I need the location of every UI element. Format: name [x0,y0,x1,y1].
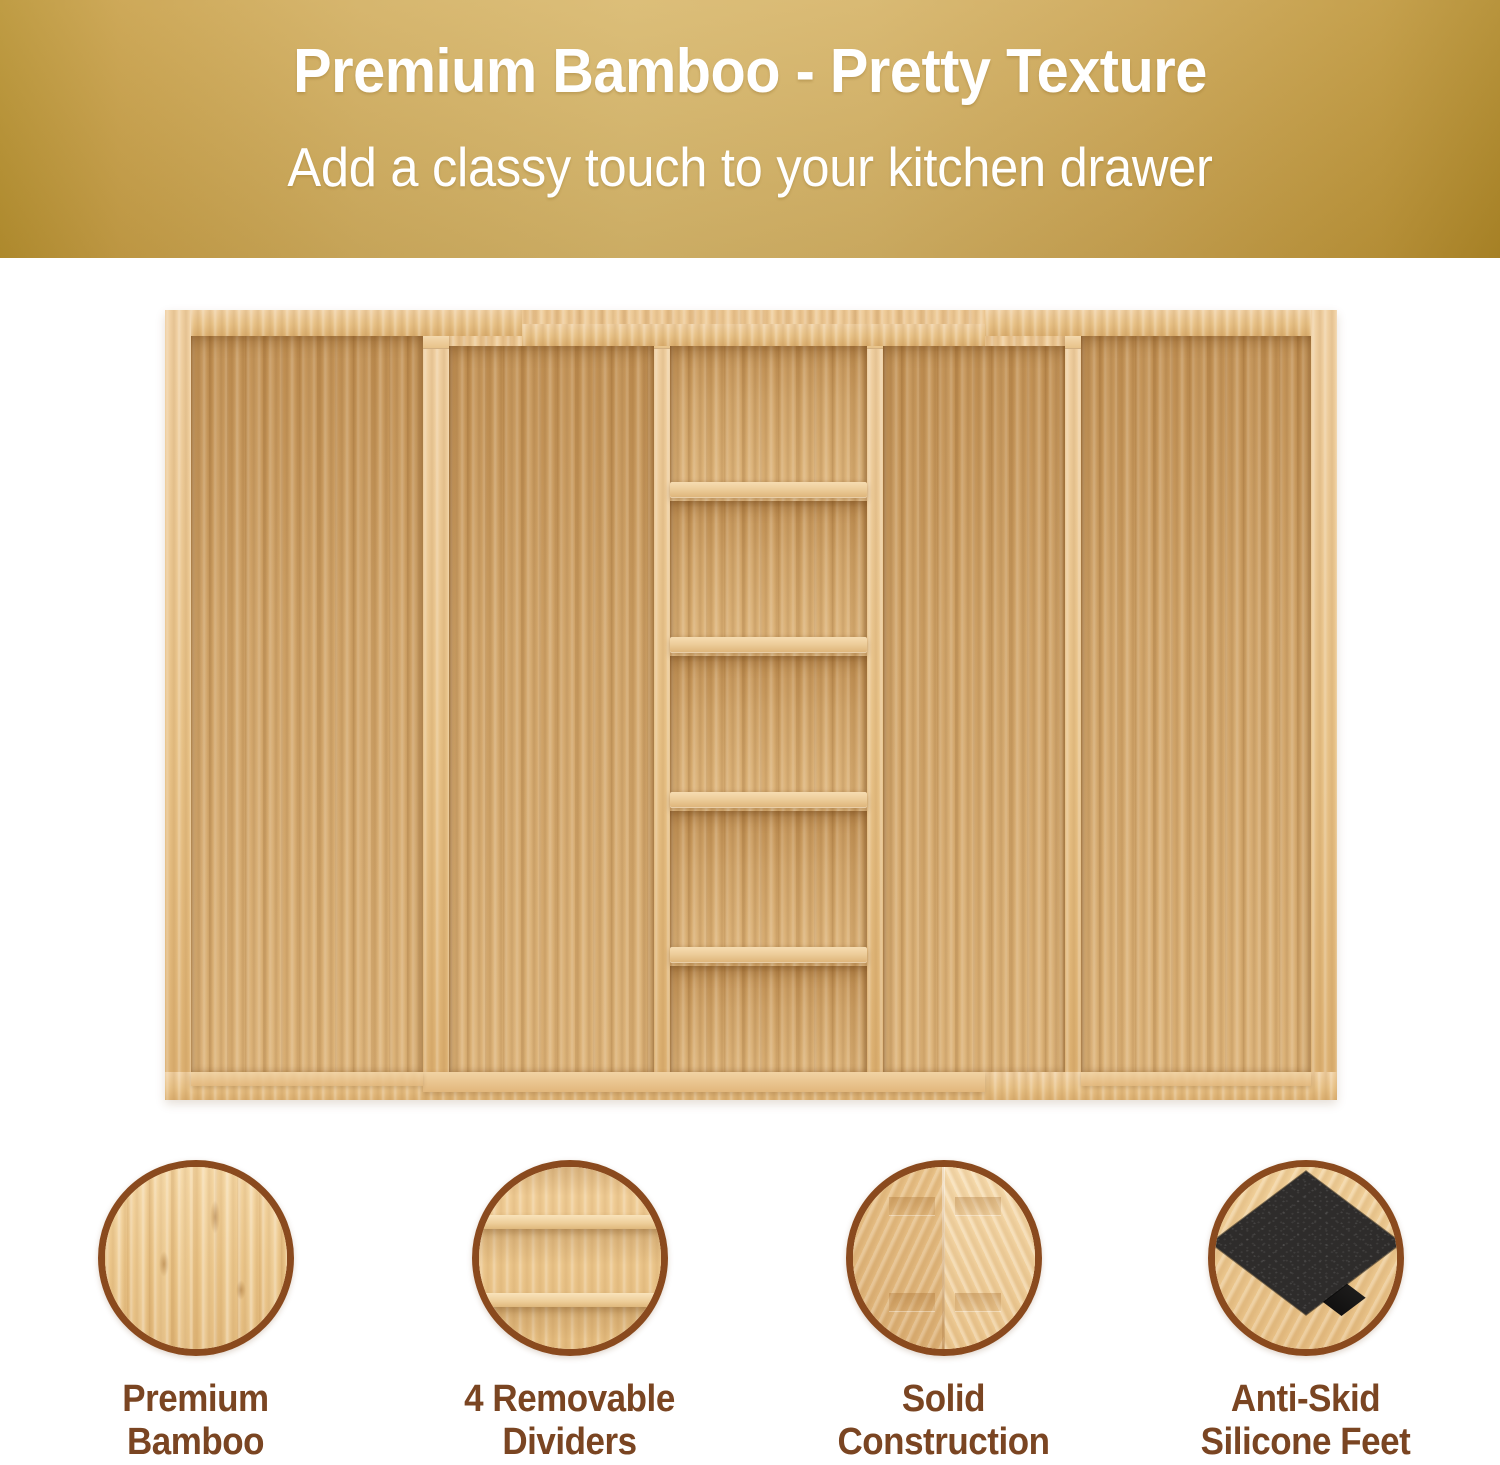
compartment-middle-5 [670,966,867,1072]
feature-item-removable-dividers: 4 Removable Dividers [382,1160,757,1463]
product-image-drawer-organizer [165,310,1337,1100]
silicone-foot-icon [1208,1160,1404,1356]
page-title: Premium Bamboo - Pretty Texture [53,36,1448,107]
compartment-middle-3 [670,656,867,795]
feature-label-line1: Solid [771,1378,1116,1421]
feature-label: Anti-Skid Silicone Feet [1133,1378,1478,1465]
feature-label: 4 Removable Dividers [397,1378,742,1465]
feature-label-line2: Silicone Feet [1133,1421,1478,1464]
compartment-inner-right [883,346,1065,1072]
expandable-wing-right-handle[interactable] [1081,1072,1311,1086]
removable-dividers-icon [472,1160,668,1356]
compartment-right-large [1081,336,1311,1072]
feature-label-line2: Construction [771,1421,1116,1464]
wall-vertical-2 [654,336,670,1072]
removable-divider-3[interactable] [670,792,867,808]
wall-vertical-4 [1065,336,1081,1072]
feature-label-line1: Premium [23,1378,368,1421]
header-banner: Premium Bamboo - Pretty Texture Add a cl… [0,0,1500,258]
page-subtitle: Add a classy touch to your kitchen drawe… [60,135,1440,199]
feature-label-line2: Bamboo [23,1421,368,1464]
feature-label: Solid Construction [771,1378,1116,1465]
removable-divider-1[interactable] [670,482,867,498]
compartment-left-large [191,336,423,1072]
feature-item-anti-skid-feet: Anti-Skid Silicone Feet [1118,1160,1493,1463]
rim-left-edge [165,310,191,1100]
removable-divider-4[interactable] [670,947,867,963]
rim-top-left-wing [165,310,522,336]
wall-vertical-3 [867,336,883,1072]
dovetail-joint-icon [846,1160,1042,1356]
expandable-wing-left-handle[interactable] [191,1072,423,1086]
feature-label-line1: 4 Removable [397,1378,742,1421]
feature-item-premium-bamboo: Premium Bamboo [8,1160,383,1463]
compartment-inner-left [449,346,654,1072]
feature-label: Premium Bamboo [23,1378,368,1465]
feature-label-line2: Dividers [397,1421,742,1464]
rim-top-right-wing [985,310,1337,336]
compartment-middle-2 [670,501,867,640]
inner-tray-bottom-lip[interactable] [423,1072,985,1092]
rim-right-edge [1311,310,1337,1100]
wall-vertical-1 [423,336,449,1072]
rim-top-center-inner-tray [522,324,985,346]
bamboo-plank-icon [98,1160,294,1356]
feature-label-line1: Anti-Skid [1133,1378,1478,1421]
feature-highlights-row: Premium Bamboo 4 Removable Dividers [0,1160,1500,1463]
compartment-middle-1 [670,346,867,485]
removable-divider-2[interactable] [670,637,867,653]
feature-item-solid-construction: Solid Construction [756,1160,1131,1463]
compartment-middle-4 [670,811,867,950]
